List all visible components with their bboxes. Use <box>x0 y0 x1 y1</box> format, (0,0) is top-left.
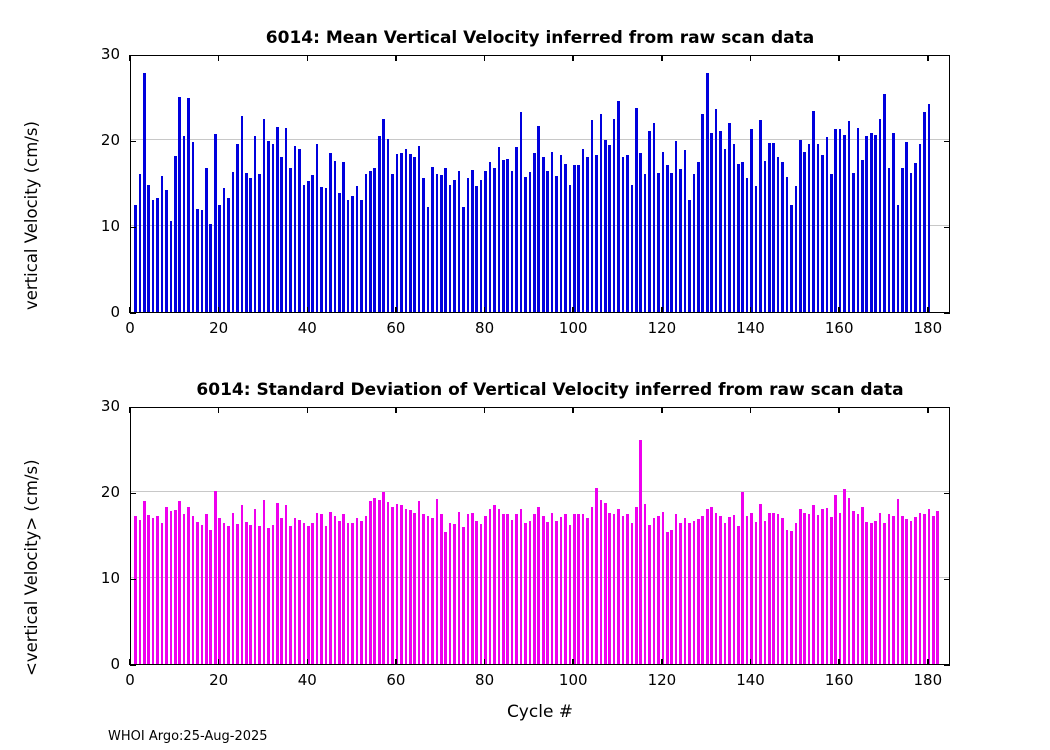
bar <box>489 509 492 664</box>
bar <box>134 205 137 313</box>
bar <box>923 112 926 312</box>
bar <box>919 144 922 312</box>
bar <box>560 155 563 312</box>
bar <box>755 186 758 312</box>
bar <box>515 514 518 664</box>
bar <box>857 128 860 312</box>
bar <box>644 504 647 664</box>
bar <box>533 514 536 664</box>
x-tick-label: 0 <box>100 671 160 689</box>
bar <box>254 136 257 312</box>
bar <box>484 516 487 664</box>
bar <box>165 190 168 312</box>
x-tick-label: 40 <box>277 671 337 689</box>
bar <box>653 518 656 664</box>
y-tick-label: 30 <box>72 45 120 63</box>
x-tick-mark <box>129 407 131 413</box>
x-tick-mark <box>218 55 220 61</box>
bar <box>591 120 594 312</box>
bar <box>263 119 266 312</box>
bar <box>436 499 439 664</box>
x-tick-mark <box>129 307 131 313</box>
bar <box>338 521 341 664</box>
bar <box>910 173 913 312</box>
bar <box>803 513 806 664</box>
bar <box>347 200 350 312</box>
bar <box>325 188 328 312</box>
figure-root: 6014: Mean Vertical Velocity inferred fr… <box>0 0 1050 750</box>
bar <box>303 523 306 664</box>
bar <box>905 519 908 664</box>
y-tick-mark <box>130 579 136 581</box>
bar <box>577 514 580 664</box>
x-tick-mark <box>484 407 486 413</box>
bar <box>777 157 780 312</box>
y-tick-mark <box>944 493 950 495</box>
bar <box>648 131 651 312</box>
bar <box>870 523 873 664</box>
panel1-plot-area <box>130 55 950 313</box>
bar <box>183 514 186 665</box>
bar <box>746 178 749 312</box>
bar <box>573 514 576 665</box>
bar <box>520 509 523 664</box>
bar <box>772 143 775 312</box>
bar <box>795 186 798 312</box>
bar <box>214 491 217 664</box>
x-tick-label: 100 <box>543 671 603 689</box>
y-tick-mark <box>944 665 950 667</box>
bar <box>498 509 501 664</box>
footer-credit: WHOI Argo:25-Aug-2025 <box>108 729 268 744</box>
x-tick-label: 60 <box>366 671 426 689</box>
bar <box>715 109 718 312</box>
bar <box>267 141 270 312</box>
y-tick-mark <box>130 141 136 143</box>
bar <box>143 73 146 312</box>
bar <box>622 157 625 312</box>
x-tick-label: 160 <box>809 671 869 689</box>
x-tick-label: 80 <box>455 671 515 689</box>
bar <box>777 514 780 664</box>
bar <box>719 131 722 312</box>
gridline <box>131 491 949 492</box>
x-tick-mark <box>750 307 752 313</box>
bar <box>156 516 159 664</box>
bar <box>759 120 762 312</box>
panel2-plot-area <box>130 407 950 665</box>
bar <box>728 123 731 312</box>
y-tick-label: 30 <box>72 397 120 415</box>
bar <box>657 516 660 664</box>
x-tick-label: 180 <box>898 319 958 337</box>
bar <box>781 518 784 664</box>
bar <box>617 509 620 664</box>
bar <box>272 525 275 664</box>
bar <box>187 507 190 664</box>
bar <box>276 127 279 312</box>
x-tick-mark <box>129 55 131 61</box>
bar <box>693 521 696 664</box>
bar <box>316 144 319 312</box>
bar <box>218 518 221 664</box>
bar <box>227 526 230 664</box>
bar <box>205 168 208 312</box>
bar <box>449 523 452 664</box>
x-tick-mark <box>838 407 840 413</box>
bar <box>498 147 501 312</box>
x-tick-mark <box>927 55 929 61</box>
bar <box>897 205 900 313</box>
x-tick-mark <box>218 659 220 665</box>
panel2-title: 6014: Standard Deviation of Vertical Vel… <box>70 380 1030 400</box>
y-tick-mark <box>130 493 136 495</box>
x-tick-label: 160 <box>809 319 869 337</box>
bar <box>249 178 252 312</box>
bar <box>569 185 572 312</box>
bar <box>577 165 580 312</box>
bar <box>334 516 337 664</box>
x-tick-mark <box>218 407 220 413</box>
bar <box>178 97 181 312</box>
bar <box>657 173 660 312</box>
bar <box>285 128 288 312</box>
bar <box>373 168 376 312</box>
bar <box>737 164 740 312</box>
bar <box>697 519 700 664</box>
bar <box>821 155 824 312</box>
bar <box>387 502 390 664</box>
bar <box>688 523 691 664</box>
bar <box>839 513 842 664</box>
bar <box>276 503 279 664</box>
x-tick-mark <box>307 307 309 313</box>
bar <box>249 525 252 664</box>
bar <box>635 507 638 664</box>
bar <box>546 522 549 664</box>
bar <box>467 178 470 312</box>
bar <box>750 129 753 312</box>
bar <box>546 171 549 312</box>
bar <box>311 523 314 664</box>
bar <box>303 185 306 312</box>
bar <box>356 186 359 312</box>
bar <box>852 511 855 664</box>
bar <box>750 513 753 664</box>
bar <box>453 180 456 312</box>
bar <box>888 168 891 312</box>
bar <box>724 149 727 312</box>
bar <box>360 521 363 664</box>
bar <box>209 530 212 664</box>
bar <box>267 528 270 664</box>
bar <box>311 175 314 312</box>
x-tick-mark <box>395 307 397 313</box>
bar <box>369 171 372 312</box>
bar <box>843 489 846 664</box>
bar <box>511 520 514 664</box>
bar <box>834 495 837 664</box>
bar <box>848 498 851 664</box>
bar <box>591 507 594 664</box>
x-tick-mark <box>307 55 309 61</box>
bar <box>325 526 328 664</box>
bar <box>143 501 146 664</box>
y-tick-mark <box>130 227 136 229</box>
bar <box>595 155 598 312</box>
x-tick-mark <box>484 55 486 61</box>
bar <box>294 518 297 664</box>
bar <box>147 185 150 312</box>
bar <box>453 524 456 664</box>
panel2-y-axis-label: <vertical Velocity> (cm/s) <box>22 459 41 676</box>
bar <box>764 161 767 312</box>
y-tick-label: 10 <box>72 217 120 235</box>
x-tick-mark <box>838 307 840 313</box>
bar <box>799 509 802 664</box>
bar <box>914 163 917 312</box>
bar <box>529 521 532 664</box>
bar <box>387 139 390 312</box>
bar <box>892 133 895 312</box>
y-tick-label: 10 <box>72 569 120 587</box>
bar <box>533 153 536 312</box>
panel1-y-axis-label: vertical Velocity (cm/s) <box>22 121 41 310</box>
bar <box>728 517 731 664</box>
bar <box>178 501 181 664</box>
x-tick-label: 120 <box>632 319 692 337</box>
bar <box>307 181 310 312</box>
x-tick-mark <box>572 407 574 413</box>
bar <box>294 146 297 312</box>
panel2-x-axis-label: Cycle # <box>130 702 950 722</box>
bar <box>857 514 860 664</box>
bar <box>413 513 416 664</box>
x-tick-label: 180 <box>898 671 958 689</box>
bar <box>529 172 532 312</box>
bar <box>205 514 208 664</box>
bar <box>400 153 403 312</box>
bar <box>396 154 399 312</box>
bar <box>608 145 611 312</box>
bar <box>405 509 408 664</box>
bar <box>391 174 394 312</box>
bar <box>405 149 408 312</box>
bar <box>848 121 851 312</box>
bar <box>701 114 704 312</box>
bar <box>152 518 155 664</box>
bar <box>422 514 425 664</box>
bar <box>537 507 540 664</box>
bar <box>573 165 576 312</box>
bar <box>768 513 771 664</box>
bar <box>161 523 164 664</box>
bar <box>905 142 908 312</box>
bar <box>923 514 926 664</box>
bar <box>351 523 354 664</box>
bar <box>617 101 620 312</box>
bar <box>316 513 319 664</box>
bar <box>670 173 673 312</box>
bar <box>928 104 931 312</box>
bar <box>639 153 642 312</box>
bar <box>604 503 607 664</box>
y-tick-mark <box>944 313 950 315</box>
bar <box>542 516 545 664</box>
bar <box>236 524 239 664</box>
bar <box>644 174 647 312</box>
bar <box>263 500 266 664</box>
bar <box>342 514 345 664</box>
bar <box>675 514 678 664</box>
y-tick-mark <box>944 141 950 143</box>
bar <box>839 129 842 312</box>
bar <box>879 513 882 664</box>
bar <box>812 111 815 312</box>
x-tick-label: 80 <box>455 319 515 337</box>
bar <box>471 513 474 664</box>
y-tick-mark <box>130 55 136 57</box>
bar <box>626 514 629 664</box>
x-tick-mark <box>661 407 663 413</box>
bar <box>631 185 634 312</box>
bar <box>684 150 687 312</box>
bar <box>444 532 447 664</box>
bar <box>506 159 509 312</box>
bar <box>684 518 687 664</box>
bar <box>715 513 718 664</box>
bar <box>471 170 474 312</box>
bar <box>440 175 443 312</box>
bar <box>241 116 244 312</box>
x-tick-mark <box>572 55 574 61</box>
bar <box>232 513 235 664</box>
bar <box>382 492 385 664</box>
x-tick-mark <box>572 659 574 665</box>
bar <box>790 205 793 313</box>
bar <box>334 161 337 312</box>
x-tick-mark <box>484 307 486 313</box>
bar <box>803 152 806 312</box>
y-tick-mark <box>130 665 136 667</box>
bar <box>817 515 820 664</box>
bar <box>192 142 195 312</box>
x-tick-label: 140 <box>721 671 781 689</box>
bar <box>688 200 691 312</box>
x-tick-mark <box>661 55 663 61</box>
bar <box>502 160 505 312</box>
bar <box>710 507 713 664</box>
bar <box>560 517 563 664</box>
bar <box>901 516 904 664</box>
bar <box>622 516 625 664</box>
bar <box>679 523 682 664</box>
bar <box>280 518 283 664</box>
bar <box>170 221 173 312</box>
bar <box>329 512 332 664</box>
bar <box>329 153 332 312</box>
x-tick-label: 60 <box>366 319 426 337</box>
x-tick-label: 40 <box>277 319 337 337</box>
bar <box>746 516 749 664</box>
panel1-bars <box>131 56 949 312</box>
bar <box>391 507 394 664</box>
bar <box>480 180 483 312</box>
bar <box>865 136 868 312</box>
x-tick-label: 20 <box>189 671 249 689</box>
bar <box>883 94 886 312</box>
bar <box>298 149 301 312</box>
bar <box>462 527 465 664</box>
bar <box>817 144 820 312</box>
bar <box>183 136 186 312</box>
bar <box>861 160 864 312</box>
x-tick-mark <box>927 307 929 313</box>
bar <box>888 514 891 664</box>
bar <box>360 200 363 312</box>
bar <box>733 144 736 312</box>
bar <box>865 522 868 664</box>
bar <box>165 507 168 664</box>
bar <box>928 509 931 664</box>
bar <box>400 505 403 664</box>
bar <box>258 526 261 664</box>
bar <box>786 177 789 312</box>
bar <box>351 196 354 312</box>
bar <box>409 510 412 664</box>
x-tick-mark <box>750 407 752 413</box>
bar <box>613 119 616 312</box>
bar <box>582 149 585 312</box>
bar <box>462 207 465 312</box>
x-tick-mark <box>927 659 929 665</box>
bar <box>830 517 833 664</box>
bar <box>542 157 545 312</box>
bar <box>232 172 235 312</box>
bar <box>795 523 798 664</box>
x-tick-label: 0 <box>100 319 160 337</box>
bar <box>662 512 665 664</box>
bar <box>223 523 226 664</box>
panel1-title: 6014: Mean Vertical Velocity inferred fr… <box>130 28 950 48</box>
bar <box>338 193 341 312</box>
bar <box>724 523 727 664</box>
bar <box>861 507 864 664</box>
bar <box>710 133 713 312</box>
y-tick-mark <box>944 227 950 229</box>
bar <box>320 514 323 664</box>
x-tick-mark <box>395 659 397 665</box>
x-tick-mark <box>129 659 131 665</box>
bar <box>170 511 173 664</box>
bar <box>209 224 212 312</box>
bar <box>427 207 430 312</box>
bar <box>272 144 275 312</box>
bar <box>289 526 292 664</box>
bar <box>781 162 784 313</box>
bar <box>639 440 642 664</box>
bar <box>436 174 439 312</box>
bar <box>826 508 829 664</box>
bar <box>506 514 509 664</box>
bar <box>369 501 372 664</box>
bar <box>741 162 744 312</box>
bar <box>608 513 611 664</box>
bar <box>192 516 195 664</box>
bar <box>480 524 483 664</box>
bar <box>874 135 877 312</box>
bar <box>834 129 837 312</box>
